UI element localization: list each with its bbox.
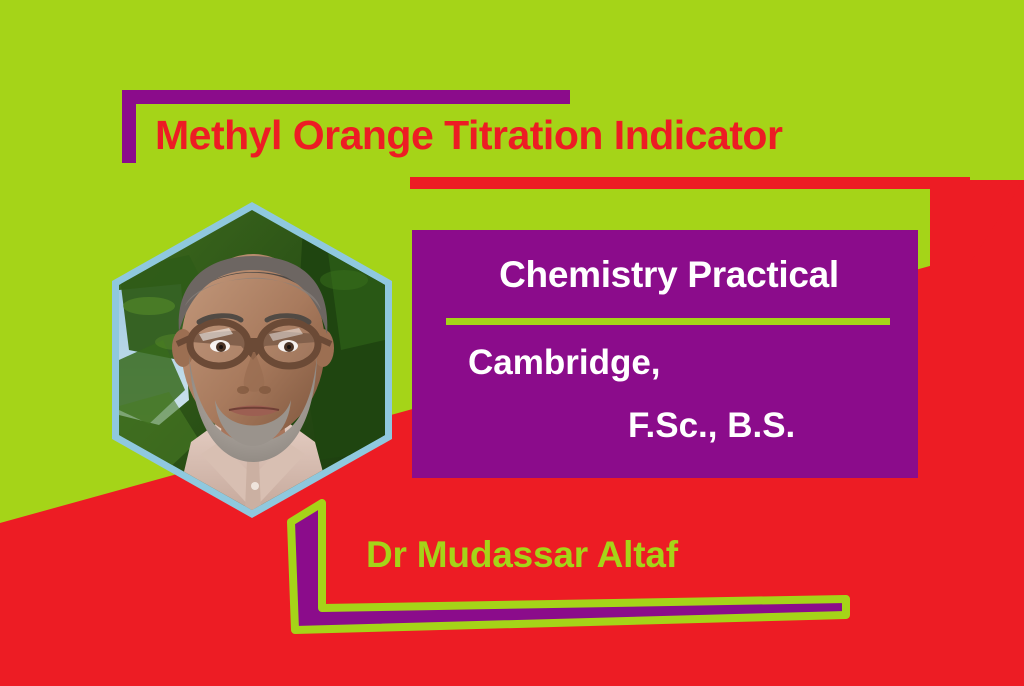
subject-card-line-2: F.Sc., B.S. xyxy=(628,406,795,446)
red-wedge-right-lower xyxy=(970,180,1024,686)
subject-card-heading: Chemistry Practical xyxy=(444,254,894,296)
poster-canvas: Methyl Orange Titration Indicator xyxy=(0,0,1024,686)
title-underline-drop xyxy=(944,177,970,263)
page-title: Methyl Orange Titration Indicator xyxy=(155,112,955,159)
subject-card-line-1: Cambridge, xyxy=(468,343,661,383)
title-bracket-horizontal xyxy=(122,90,570,104)
title-bracket-vertical xyxy=(122,90,136,163)
avatar xyxy=(112,202,392,518)
author-name: Dr Mudassar Altaf xyxy=(366,534,678,576)
title-underline-rule xyxy=(410,177,944,189)
subject-card: Chemistry Practical Cambridge, F.Sc., B.… xyxy=(412,230,918,478)
subject-card-rule xyxy=(446,318,890,325)
